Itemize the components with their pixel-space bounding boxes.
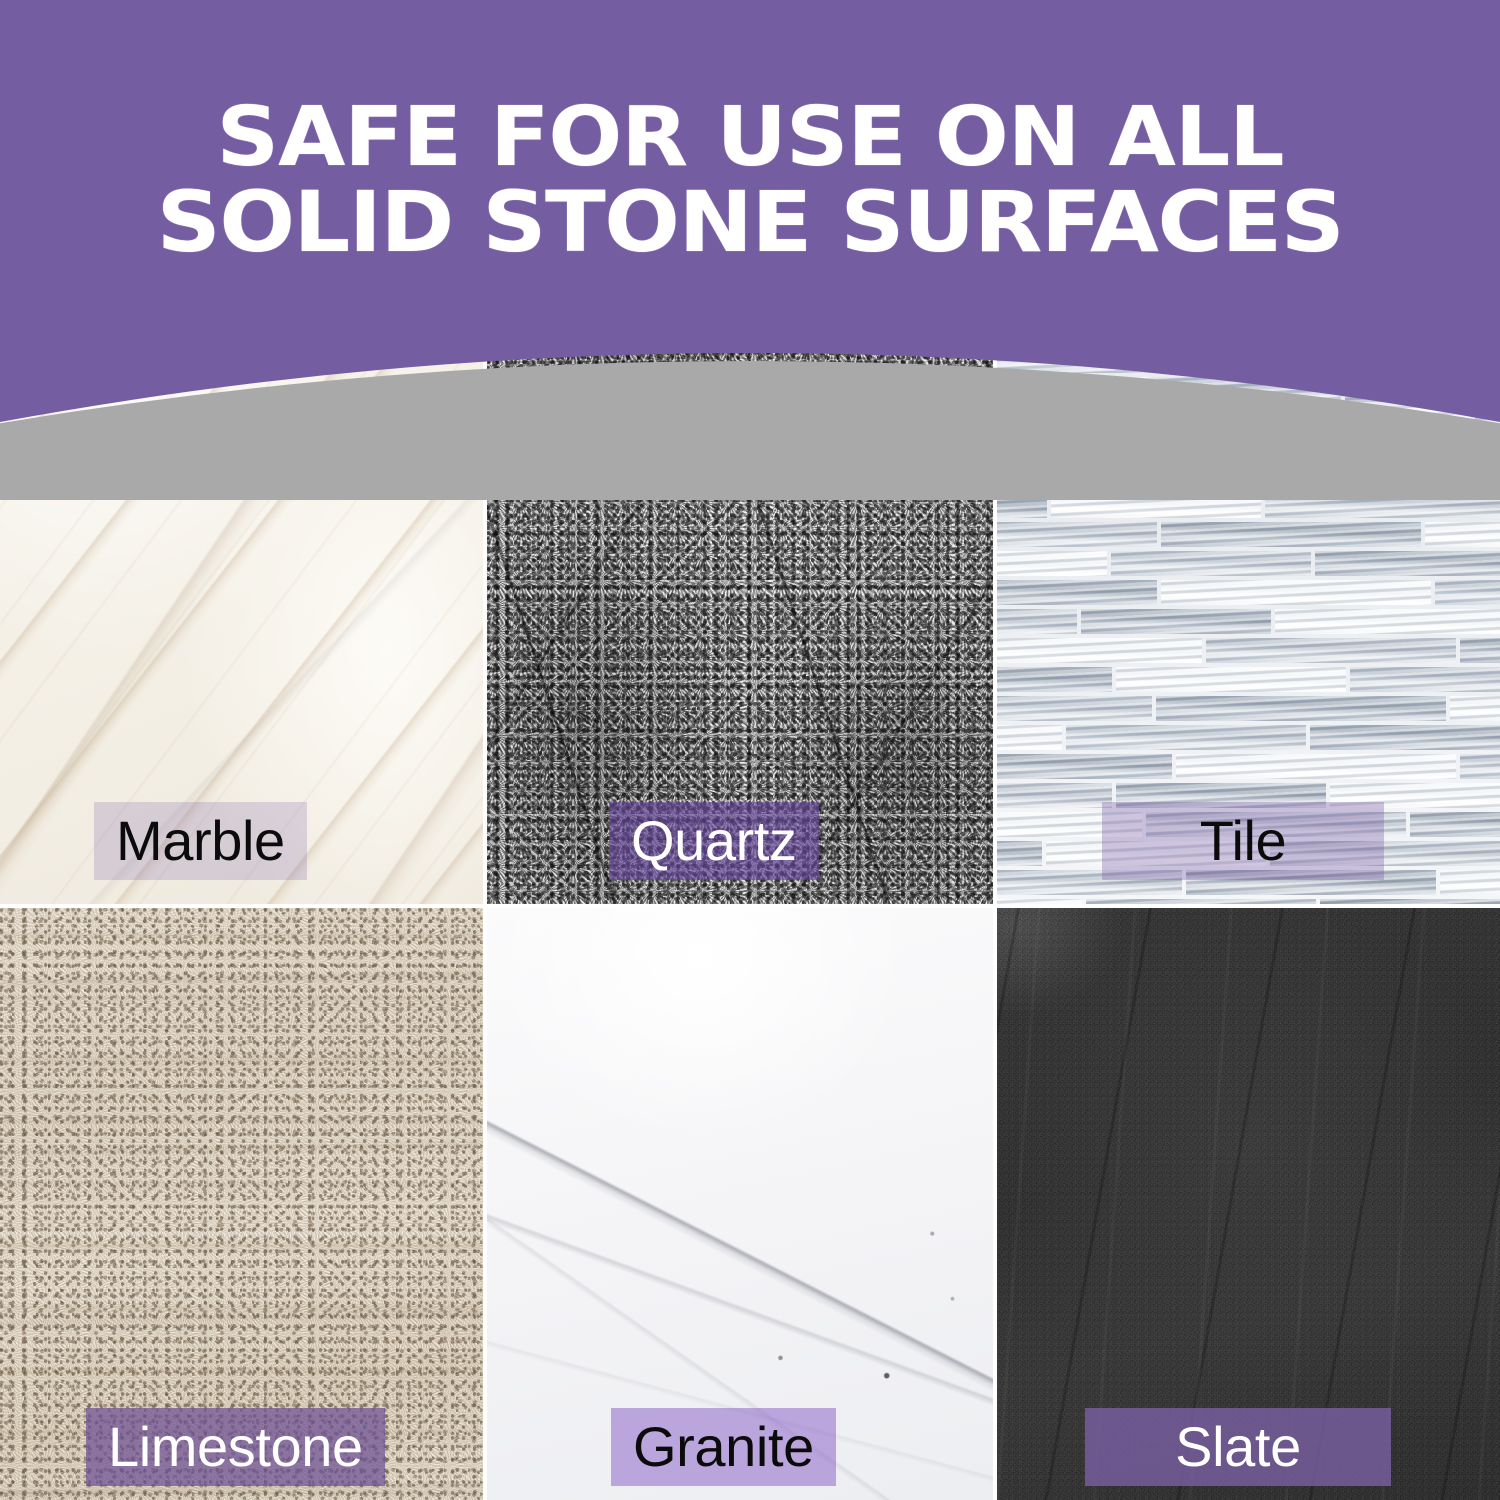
marble-texture-swatch [0,0,483,904]
surface-label-text: Granite [633,1419,814,1475]
surface-label-granite: Granite [611,1408,836,1486]
quartz-texture-swatch [487,0,993,904]
surface-label-text: Limestone [108,1419,363,1475]
surface-label-text: Quartz [631,813,797,869]
surface-tile-limestone[interactable]: Limestone [0,908,487,1500]
tile-texture-swatch [997,0,1500,904]
surface-label-text: Slate [1175,1419,1301,1475]
surface-label-tile: Tile [1102,802,1384,880]
surface-label-text: Marble [116,813,285,869]
surface-tile-quartz[interactable]: Quartz [487,0,997,908]
surface-label-limestone: Limestone [86,1408,385,1486]
surface-tile-slate[interactable]: Slate [997,908,1500,1500]
mosaic-courses [997,0,1500,904]
surface-tile-granite[interactable]: Granite [487,908,997,1500]
surface-tile-tile[interactable]: Tile [997,0,1500,908]
surface-grid: Marble Quartz [0,0,1500,1500]
surface-label-slate: Slate [1085,1408,1391,1486]
surface-label-quartz: Quartz [609,802,819,880]
promo-graphic: Marble Quartz [0,0,1500,1500]
surface-tile-marble[interactable]: Marble [0,0,487,908]
surface-label-marble: Marble [94,802,307,880]
surface-label-text: Tile [1200,813,1287,869]
